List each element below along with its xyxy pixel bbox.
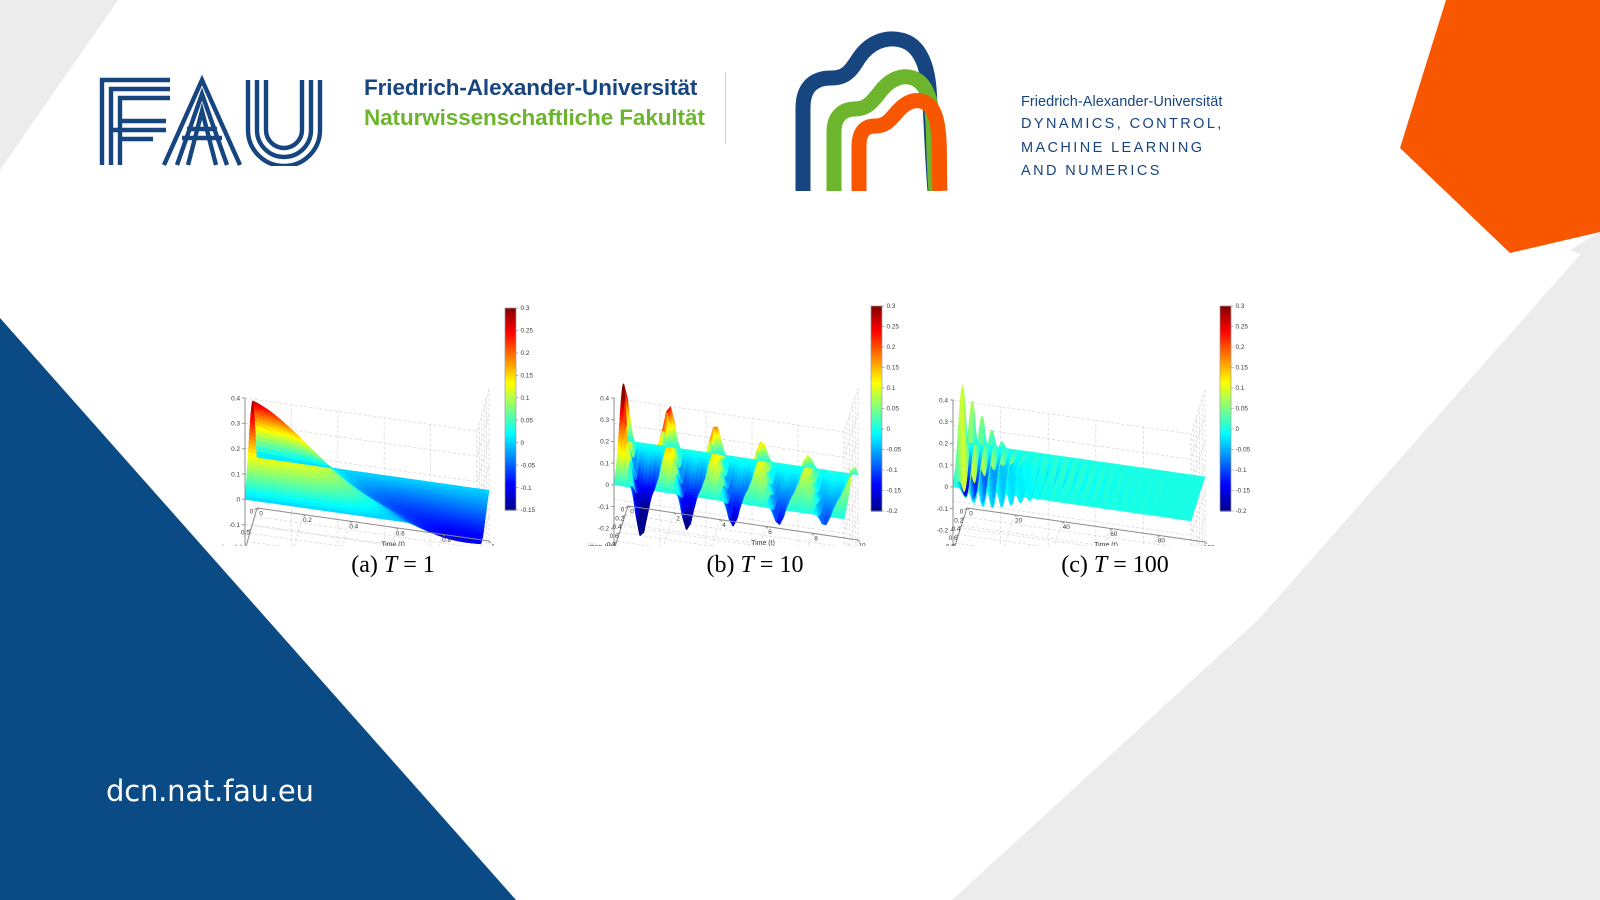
plot-c-ytick: 40: [1063, 524, 1071, 531]
plot-c-ztick: 0.2: [939, 441, 948, 448]
caption-a-label: (a): [351, 552, 378, 578]
plot-a-ytick: 0.2: [303, 517, 312, 524]
plot-b-ytick: 0: [630, 509, 634, 516]
plot-b-xlabel: Position (x): [588, 544, 613, 546]
footer-url: dcn.nat.fau.eu: [106, 774, 314, 808]
plot-b-ztick: 0.3: [600, 417, 609, 424]
caption-b: (b) T = 10: [645, 552, 865, 579]
plot-a-xlabel: Position (x): [222, 545, 243, 546]
plot-a-ztick: 0.2: [231, 446, 240, 453]
plot-b-surface: [614, 384, 858, 535]
plot-a-cbtick: 0.05: [521, 417, 534, 424]
plot-c-cbtick: 0.2: [1236, 344, 1245, 351]
plot-c-ytick: 0: [969, 511, 973, 518]
plot-c-xtick: 0: [960, 509, 964, 516]
plot-c-xtick: 0.4: [951, 526, 960, 533]
plot-b-ztick: 0: [605, 482, 609, 489]
plot-a-ytick: 1: [491, 544, 495, 547]
caption-b-value: 10: [779, 552, 803, 578]
plot-b-ytick: 6: [768, 529, 772, 536]
plot-b-cbtick: -0.2: [887, 508, 898, 515]
plot-c-cbtick: 0.3: [1236, 303, 1245, 310]
plot-b-cbtick: 0.25: [887, 324, 900, 331]
plot-a-ytick: 0.4: [349, 524, 358, 531]
plot-c-colorbar: [1220, 306, 1234, 512]
plot-c-ytick: 80: [1158, 538, 1166, 545]
plot-a-canvas: -0.2-0.100.10.20.30.400.5100.20.40.60.81…: [222, 296, 552, 546]
plot-c-cbtick: 0.05: [1236, 406, 1249, 413]
plot-a-ytick: 0: [259, 511, 263, 518]
plot-a-ztick: -0.1: [229, 522, 240, 529]
plot-c-cbtick: 0.15: [1236, 365, 1249, 372]
surface-plot-c: -0.3-0.2-0.100.10.20.30.400.20.40.60.810…: [925, 296, 1270, 546]
caption-c: (c) T = 100: [1000, 552, 1230, 579]
fau-logo-icon: [98, 66, 348, 166]
plot-a-ztick: 0.4: [231, 395, 240, 402]
plot-c-canvas: -0.3-0.2-0.100.10.20.30.400.20.40.60.810…: [925, 296, 1270, 546]
dcn-line-machine-learning: MACHINE LEARNING: [1021, 137, 1224, 161]
plot-c-ztick: 0.4: [939, 397, 948, 404]
plot-c-ztick: -0.1: [937, 506, 948, 513]
caption-c-var: T: [1094, 552, 1107, 578]
plot-b-cbtick: 0.1: [887, 385, 896, 392]
plot-b-xtick: 0.6: [610, 533, 619, 540]
plot-a-cbtick: -0.05: [521, 462, 536, 469]
plot-a-cbtick: 0.3: [521, 305, 530, 312]
plot-c-ylabel: Time (t): [1094, 542, 1118, 546]
plot-a-cbtick: 0.2: [521, 350, 530, 357]
plot-a-cbtick: 0.25: [521, 328, 534, 335]
plot-a-surface: [245, 401, 489, 544]
plot-b-cbtick: 0.3: [887, 303, 896, 310]
dcn-line-numerics: AND NUMERICS: [1021, 160, 1224, 184]
plot-a-cbtick: 0.1: [521, 395, 530, 402]
caption-c-value: 100: [1133, 552, 1169, 578]
plot-b-ytick: 8: [814, 536, 818, 543]
plot-a-xtick: 0: [250, 509, 254, 516]
figure-row: -0.2-0.100.10.20.30.400.5100.20.40.60.81…: [0, 296, 1600, 596]
plot-b-ztick: 0.4: [600, 395, 609, 402]
dcn-logo-icon: [793, 26, 1008, 191]
dcn-line-dynamics: DYNAMICS, CONTROL,: [1021, 113, 1224, 137]
plot-b-xtick: 0.2: [615, 515, 624, 522]
plot-a-ytick: 0.6: [396, 530, 405, 537]
fau-wordmark: Friedrich-Alexander-Universität Naturwis…: [364, 73, 705, 133]
surface-plot-a: -0.2-0.100.10.20.30.400.5100.20.40.60.81…: [222, 296, 552, 546]
header-divider: [725, 72, 726, 144]
plot-a-cbtick: -0.1: [521, 485, 532, 492]
plot-a-ytick: 0.8: [442, 537, 451, 544]
plot-b-cbtick: 0.05: [887, 406, 900, 413]
plot-b-cbtick: 0: [887, 426, 891, 433]
plot-b-ytick: 2: [676, 515, 680, 522]
plot-b-ylabel: Time (t): [751, 540, 775, 546]
plot-b-ztick: -0.2: [598, 526, 609, 533]
plot-a-colorbar: [505, 308, 519, 511]
plot-a-ylabel: Time (t): [381, 542, 405, 547]
plot-b-ytick: 4: [722, 522, 726, 529]
plot-a-cbtick: -0.15: [521, 507, 536, 514]
fau-university-line: Friedrich-Alexander-Universität: [364, 73, 705, 103]
plot-c-cbtick: -0.1: [1236, 467, 1247, 474]
plot-b-cbtick: -0.15: [887, 488, 902, 495]
plot-c-ytick: 60: [1110, 531, 1118, 538]
plot-c-surface: [953, 386, 1205, 521]
plot-a-xtick: 0.5: [241, 530, 250, 537]
surface-plot-b: -0.3-0.2-0.100.10.20.30.400.20.40.60.810…: [588, 296, 918, 546]
plot-b-cbtick: -0.05: [887, 447, 902, 454]
caption-a-var: T: [384, 552, 397, 578]
plot-a-cbtick: 0.15: [521, 373, 534, 380]
plot-b-ytick: 10: [858, 543, 866, 547]
caption-b-label: (b): [707, 552, 735, 578]
dcn-wordmark: Friedrich-Alexander-Universität DYNAMICS…: [1021, 92, 1224, 184]
plot-c-cbtick: -0.15: [1236, 488, 1251, 495]
plot-b-cbtick: -0.1: [887, 467, 898, 474]
plot-b-cbtick: 0.2: [887, 344, 896, 351]
caption-a-eq: =: [403, 552, 417, 578]
plot-b-xtick: 0.4: [612, 524, 621, 531]
plot-b-cbtick: 0.15: [887, 365, 900, 372]
caption-a: (a) T = 1: [283, 552, 503, 579]
caption-c-eq: =: [1113, 552, 1127, 578]
plot-c-cbtick: 0.1: [1236, 385, 1245, 392]
plot-a-cbtick: 0: [521, 440, 525, 447]
plot-b-ztick: 0.2: [600, 439, 609, 446]
caption-a-value: 1: [423, 552, 435, 578]
plot-b-xtick: 0: [621, 507, 625, 514]
plot-c-ztick: -0.2: [937, 528, 948, 535]
slide-header: Friedrich-Alexander-Universität Naturwis…: [0, 0, 1600, 230]
plot-b-ztick: 0.1: [600, 460, 609, 467]
plot-c-cbtick: -0.2: [1236, 508, 1247, 515]
plot-a-ztick: 0.3: [231, 421, 240, 428]
plot-c-ztick: 0.3: [939, 419, 948, 426]
slide-canvas: Friedrich-Alexander-Universität Naturwis…: [0, 0, 1600, 900]
caption-c-label: (c): [1061, 552, 1088, 578]
caption-b-eq: =: [760, 552, 774, 578]
plot-b-canvas: -0.3-0.2-0.100.10.20.30.400.20.40.60.810…: [588, 296, 918, 546]
caption-row: (a) T = 1 (b) T = 10 (c) T = 100: [0, 552, 1600, 592]
plot-c-xtick: 0.2: [954, 517, 963, 524]
plot-a-ztick: 0: [236, 497, 240, 504]
plot-c-ytick: 100: [1204, 545, 1215, 547]
fau-faculty-line: Naturwissenschaftliche Fakultät: [364, 103, 705, 133]
plot-c-ytick: 20: [1015, 517, 1023, 524]
plot-b-ztick: -0.1: [598, 504, 609, 511]
plot-c-cbtick: 0.25: [1236, 324, 1249, 331]
plot-c-ztick: 0: [944, 484, 948, 491]
dcn-university-line: Friedrich-Alexander-Universität: [1021, 92, 1224, 113]
plot-c-xtick: 0.6: [949, 535, 958, 542]
plot-c-cbtick: 0: [1236, 426, 1240, 433]
plot-a-ztick: 0.1: [231, 471, 240, 478]
caption-b-var: T: [741, 552, 754, 578]
plot-b-colorbar: [871, 306, 885, 512]
plot-c-ztick: 0.1: [939, 462, 948, 469]
plot-c-cbtick: -0.05: [1236, 447, 1251, 454]
